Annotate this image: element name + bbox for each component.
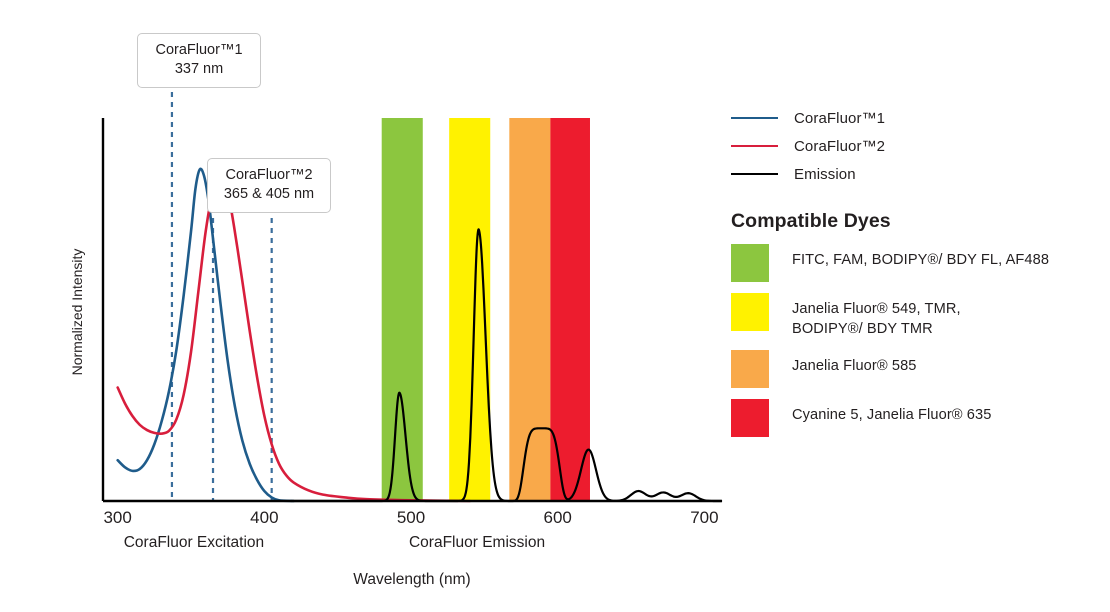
dye-label: FITC, FAM, BODIPY®/ BDY FL, AF488	[792, 244, 1049, 271]
dye-label: Janelia Fluor® 549, TMR,BODIPY®/ BDY TMR	[792, 293, 961, 339]
callout-line-2: 365 & 405 nm	[220, 185, 318, 204]
legend-line-swatch	[731, 145, 778, 147]
dye-color-swatch	[731, 244, 769, 282]
y-axis-title: Normalized Intensity	[69, 249, 85, 376]
legend-item-corafluor2[interactable]: CoraFluor™2	[731, 132, 1106, 160]
legend-item-emission[interactable]: Emission	[731, 160, 1106, 188]
dye-label-line-2: BODIPY®/ BDY TMR	[792, 320, 961, 340]
dye-color-swatch	[731, 350, 769, 388]
legend-series-list: CoraFluor™1CoraFluor™2Emission	[731, 104, 1106, 188]
legend-line-label: CoraFluor™1	[794, 110, 885, 127]
legend-line-label: Emission	[794, 166, 856, 183]
x-tick-label-300: 300	[103, 508, 131, 527]
corafluor1-callout: CoraFluor™1337 nm	[137, 33, 261, 88]
green-band	[382, 118, 423, 501]
band-layer	[382, 118, 590, 501]
spectra-figure: 300400500600700CoraFluor ExcitationCoraF…	[0, 0, 1110, 612]
dye-color-swatch	[731, 293, 769, 331]
dye-row-1[interactable]: FITC, FAM, BODIPY®/ BDY FL, AF488	[731, 244, 1106, 282]
dye-label-line-1: Cyanine 5, Janelia Fluor® 635	[792, 406, 991, 426]
x-tick-label-700: 700	[690, 508, 718, 527]
region-label-emission: CoraFluor Emission	[409, 534, 545, 551]
dye-label: Cyanine 5, Janelia Fluor® 635	[792, 399, 991, 426]
orange-band	[509, 118, 550, 501]
dye-color-swatch	[731, 399, 769, 437]
chart-legend: CoraFluor™1CoraFluor™2Emission Compatibl…	[731, 104, 1106, 437]
corafluor2-callout: CoraFluor™2365 & 405 nm	[207, 158, 331, 213]
x-tick-label-500: 500	[397, 508, 425, 527]
dye-label: Janelia Fluor® 585	[792, 350, 917, 377]
compatible-dyes-list: FITC, FAM, BODIPY®/ BDY FL, AF488Janelia…	[731, 244, 1106, 437]
legend-line-swatch	[731, 173, 778, 175]
x-tick-label-600: 600	[544, 508, 572, 527]
dye-row-3[interactable]: Janelia Fluor® 585	[731, 350, 1106, 388]
dye-row-2[interactable]: Janelia Fluor® 549, TMR,BODIPY®/ BDY TMR	[731, 293, 1106, 339]
callout-line-1: CoraFluor™1	[150, 41, 248, 60]
dye-label-line-1: Janelia Fluor® 549, TMR,	[792, 300, 961, 320]
callout-line-2: 337 nm	[150, 60, 248, 79]
x-tick-label-400: 400	[250, 508, 278, 527]
curve-corafluor1	[118, 169, 294, 501]
x-axis-title: Wavelength (nm)	[353, 571, 470, 588]
legend-line-swatch	[731, 117, 778, 119]
dye-label-line-1: Janelia Fluor® 585	[792, 357, 917, 377]
dye-label-line-1: FITC, FAM, BODIPY®/ BDY FL, AF488	[792, 251, 1049, 271]
callout-line-1: CoraFluor™2	[220, 166, 318, 185]
guide-line-layer	[172, 92, 272, 501]
legend-line-label: CoraFluor™2	[794, 138, 885, 155]
compatible-dyes-title: Compatible Dyes	[731, 210, 1106, 233]
legend-item-corafluor1[interactable]: CoraFluor™1	[731, 104, 1106, 132]
curve-emission	[291, 229, 721, 501]
dye-row-4[interactable]: Cyanine 5, Janelia Fluor® 635	[731, 399, 1106, 437]
region-label-excitation: CoraFluor Excitation	[124, 534, 264, 551]
